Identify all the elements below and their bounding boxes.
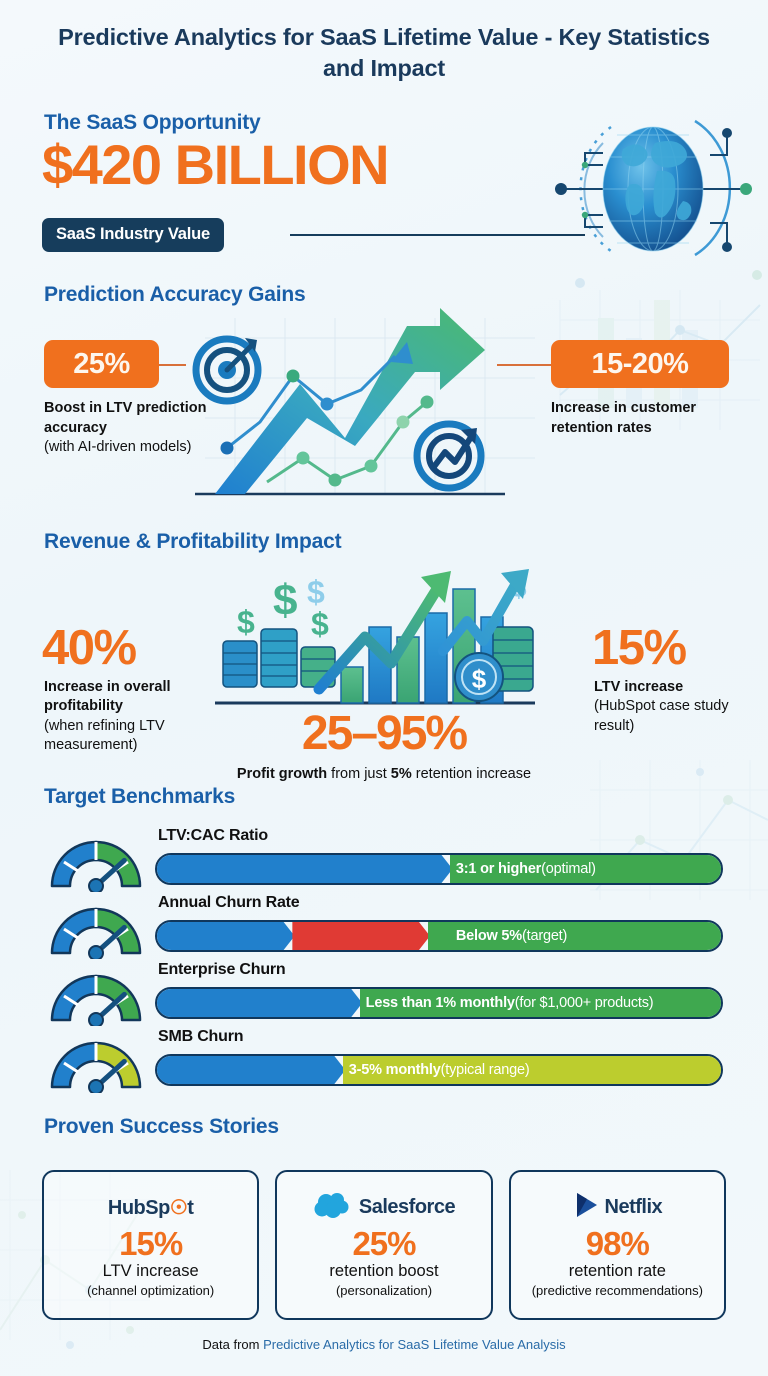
benchmark-row: Enterprise ChurnLess than 1% monthly (fo… — [0, 961, 768, 1029]
revenue-profitability-section: Revenue & Profitability Impact $ — [0, 530, 768, 820]
prediction-accuracy-section: Prediction Accuracy Gains — [0, 283, 768, 513]
svg-text:$: $ — [472, 664, 487, 694]
gauge-blue-yellow-icon — [42, 1031, 150, 1093]
card-logo-row: HubSp☉t — [108, 1191, 194, 1225]
benchmark-value-bold: 3:1 or higher — [456, 861, 541, 877]
accuracy-right-text: Increase in customer retention rates — [551, 399, 726, 438]
benchmark-bar-text: Below 5% (target) — [157, 922, 721, 950]
target-benchmarks-section: Target Benchmarks LTV:CAC Ratio3:1 or hi… — [0, 785, 768, 1100]
benchmark-label: LTV:CAC Ratio — [158, 827, 268, 845]
svg-text:$: $ — [273, 576, 297, 625]
revenue-center-text: Profit growth from just 5% retention inc… — [184, 764, 584, 784]
accuracy-right-badge: 15-20% — [551, 340, 729, 388]
card-logo-text: Netflix — [605, 1196, 663, 1219]
benchmark-row: LTV:CAC Ratio3:1 or higher (optimal) — [0, 827, 768, 895]
card-logo-text: Salesforce — [359, 1196, 455, 1219]
revenue-center-bold-b: 5% — [391, 766, 412, 782]
benchmark-bar-text: Less than 1% monthly (for $1,000+ produc… — [157, 989, 721, 1017]
benchmark-label: Annual Churn Rate — [158, 894, 300, 912]
benchmark-bar[interactable]: 3-5% monthly (typical range) — [155, 1054, 723, 1086]
coins-bar-chart-growth-art: $ $ $ $ $ — [215, 555, 560, 720]
accuracy-left-text: Boost in LTV prediction accuracy (with A… — [44, 399, 224, 458]
benchmark-value-bold: Below 5% — [456, 928, 522, 944]
footer-prefix: Data from — [202, 1337, 263, 1352]
revenue-left-value: 40% — [42, 624, 136, 673]
benchmark-bar[interactable]: Less than 1% monthly (for $1,000+ produc… — [155, 987, 723, 1019]
hero-value: $420 BILLION — [42, 137, 388, 193]
story-card-list: HubSp☉t15%LTV increase(channel optimizat… — [42, 1170, 726, 1320]
hero-section: The SaaS Opportunity $420 BILLION SaaS I… — [0, 105, 768, 265]
accuracy-left-connector — [158, 364, 186, 366]
revenue-center-bold-a: Profit growth — [237, 766, 327, 782]
gauge-blue-green-icon — [42, 964, 150, 1026]
benchmark-label: Enterprise Churn — [158, 961, 286, 979]
revenue-center-plain-b: retention increase — [412, 766, 531, 782]
accuracy-left-bold: Boost in LTV prediction accuracy — [44, 400, 206, 436]
revenue-left-bold: Increase in overall profitability — [44, 679, 171, 714]
card-label: retention rate — [569, 1262, 666, 1282]
revenue-right-bold: LTV increase — [594, 679, 683, 695]
benchmark-value-muted: (target) — [522, 928, 567, 944]
benchmark-value-muted: (optimal) — [541, 861, 596, 877]
card-sublabel: (predictive recommendations) — [532, 1283, 703, 1299]
upward-arrow-line-chart-art — [175, 298, 565, 513]
card-logo-row: Salesforce — [313, 1191, 455, 1225]
benchmark-row: SMB Churn3-5% monthly (typical range) — [0, 1028, 768, 1096]
svg-text:$: $ — [311, 606, 329, 642]
svg-text:$: $ — [237, 604, 255, 640]
revenue-right-value: 15% — [592, 624, 686, 673]
benchmark-bar[interactable]: Below 5% (target) — [155, 920, 723, 952]
card-value: 98% — [586, 1227, 649, 1262]
card-value: 25% — [352, 1227, 415, 1262]
benchmark-value-bold: Less than 1% monthly — [366, 995, 515, 1011]
card-label: retention boost — [329, 1262, 438, 1282]
stories-heading: Proven Success Stories — [44, 1115, 279, 1139]
benchmarks-heading: Target Benchmarks — [44, 785, 235, 809]
benchmark-row: Annual Churn RateBelow 5% (target) — [0, 894, 768, 962]
benchmark-bar[interactable]: 3:1 or higher (optimal) — [155, 853, 723, 885]
benchmark-value-muted: (typical range) — [441, 1062, 530, 1078]
revenue-center-value: 25–95% — [0, 710, 768, 758]
benchmark-bar-text: 3:1 or higher (optimal) — [157, 855, 721, 883]
footer-source: Predictive Analytics for SaaS Lifetime V… — [263, 1337, 566, 1352]
card-logo-row: Netflix — [573, 1191, 663, 1225]
netflix-play-logo — [573, 1191, 599, 1224]
card-value: 15% — [119, 1227, 182, 1262]
infographic-page: Predictive Analytics for SaaS Lifetime V… — [0, 0, 768, 1376]
gauge-blue-green-icon — [42, 897, 150, 959]
card-logo-text: HubSp☉t — [108, 1195, 194, 1220]
story-card[interactable]: Netflix98%retention rate(predictive reco… — [509, 1170, 726, 1320]
gauge-blue-green-icon — [42, 830, 150, 892]
svg-text:$: $ — [307, 574, 325, 610]
revenue-center-plain-a: from just — [327, 766, 391, 782]
hero-tag-label: SaaS Industry Value — [42, 218, 224, 252]
footer-credit: Data from Predictive Analytics for SaaS … — [0, 1337, 768, 1352]
salesforce-cloud-logo — [313, 1191, 353, 1224]
benchmark-value-bold: 3-5% monthly — [349, 1062, 441, 1078]
hero-heading: The SaaS Opportunity — [44, 111, 261, 135]
hero-connector-line — [290, 234, 585, 236]
revenue-heading: Revenue & Profitability Impact — [44, 530, 341, 554]
card-label: LTV increase — [103, 1262, 199, 1282]
card-sublabel: (channel optimization) — [87, 1283, 214, 1299]
benchmark-value-muted: (for $1,000+ products) — [515, 995, 654, 1011]
success-stories-section: Proven Success Stories HubSp☉t15%LTV inc… — [0, 1115, 768, 1335]
accuracy-left-badge: 25% — [44, 340, 159, 388]
benchmark-label: SMB Churn — [158, 1028, 243, 1046]
benchmark-bar-text: 3-5% monthly (typical range) — [157, 1056, 721, 1084]
story-card[interactable]: Salesforce25%retention boost(personaliza… — [275, 1170, 492, 1320]
story-card[interactable]: HubSp☉t15%LTV increase(channel optimizat… — [42, 1170, 259, 1320]
globe-network-icon — [545, 105, 760, 270]
accuracy-left-muted: (with AI-driven models) — [44, 439, 191, 455]
accuracy-right-connector — [497, 364, 553, 366]
card-sublabel: (personalization) — [336, 1283, 432, 1299]
page-title: Predictive Analytics for SaaS Lifetime V… — [50, 22, 718, 84]
